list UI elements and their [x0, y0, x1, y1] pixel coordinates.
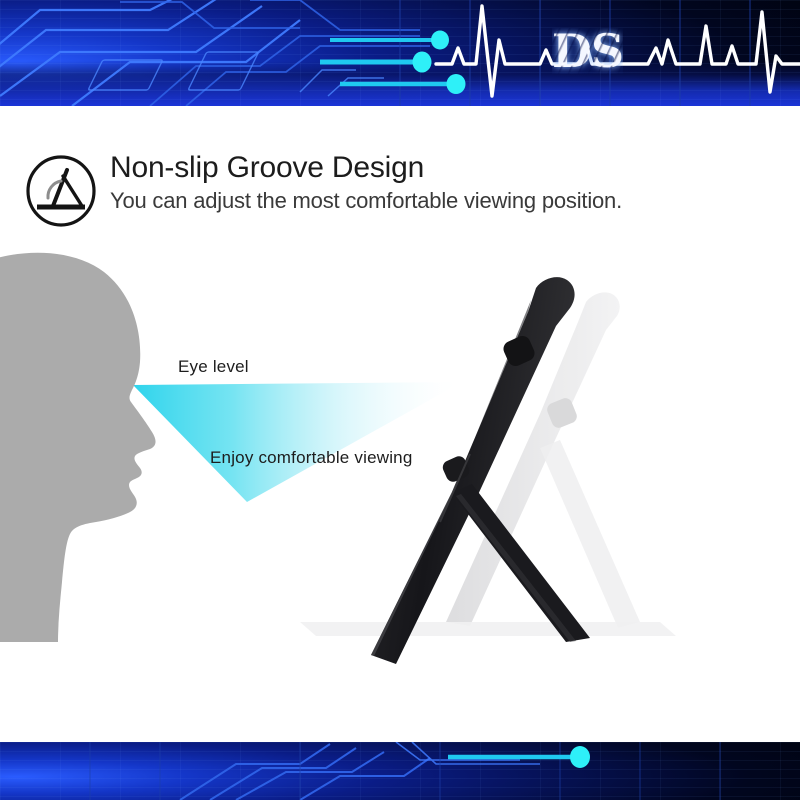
view-cone — [133, 382, 462, 502]
bottom-banner — [0, 742, 800, 800]
ecg-heartbeat-line — [0, 0, 800, 106]
head-silhouette — [0, 253, 156, 642]
label-eye-level: Eye level — [178, 357, 249, 377]
label-enjoy-comfortable-viewing: Enjoy comfortable viewing — [210, 448, 412, 468]
page-subtitle: You can adjust the most comfortable view… — [110, 188, 622, 214]
heading-text-group: Non-slip Groove Design You can adjust th… — [110, 152, 622, 214]
feature-heading-block: Non-slip Groove Design You can adjust th… — [24, 152, 776, 228]
tablet-folio-stand — [185, 277, 615, 742]
page-title: Non-slip Groove Design — [110, 152, 622, 184]
adjustable-stand-angle-icon — [24, 154, 98, 228]
ds-brand-logo: DS — [552, 28, 623, 74]
top-banner: DS — [0, 0, 800, 106]
illustration-svg — [0, 250, 800, 742]
product-feature-image: DS Non-slip Groove Design You can adjust… — [0, 0, 800, 800]
bottom-circuit-trace-pattern — [0, 742, 800, 800]
product-illustration-stage: Eye level Enjoy comfortable viewing — [0, 250, 800, 742]
